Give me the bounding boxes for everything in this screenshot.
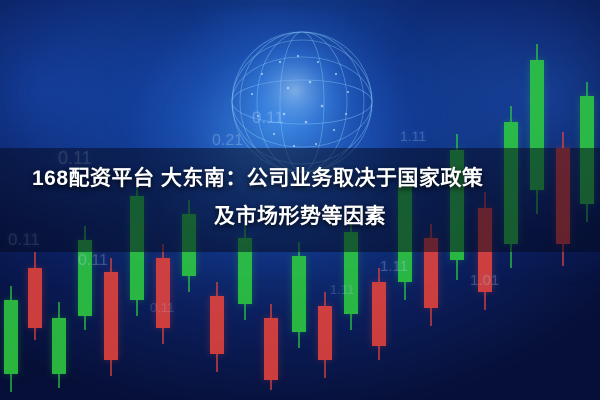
candlestick xyxy=(52,302,66,388)
candlestick xyxy=(372,268,386,360)
candle-body xyxy=(28,268,42,328)
candle-body xyxy=(372,282,386,346)
candle-body xyxy=(318,306,332,360)
candlestick xyxy=(104,258,118,376)
candlestick xyxy=(28,252,42,340)
candlestick xyxy=(292,242,306,348)
candle-body xyxy=(292,256,306,332)
candlestick xyxy=(210,282,224,372)
candlestick xyxy=(318,292,332,378)
candle-body xyxy=(52,318,66,374)
headline-line-1: 168配资平台 大东南：公司业务取决于国家政策 xyxy=(26,160,574,198)
candlestick xyxy=(156,244,170,344)
candle-body xyxy=(210,296,224,354)
candlestick xyxy=(264,304,278,390)
candle-body xyxy=(4,300,18,374)
news-banner-image: 0.111.110.210.110.110.111.111.011.110.11… xyxy=(0,0,600,400)
candle-body xyxy=(156,258,170,328)
candle-body xyxy=(264,318,278,380)
headline-line-2: 及市场形势等因素 xyxy=(26,198,574,236)
candle-body xyxy=(104,272,118,360)
headline-text: 168配资平台 大东南：公司业务取决于国家政策 及市场形势等因素 xyxy=(0,160,600,236)
candlestick xyxy=(4,286,18,392)
